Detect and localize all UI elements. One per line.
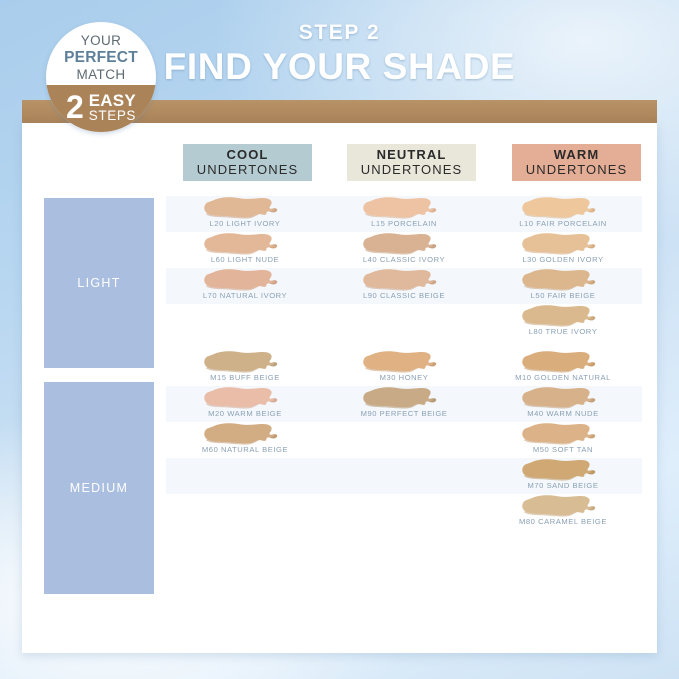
shade-swatch-icon [362,387,446,409]
badge-steps-label: STEPS [89,109,136,123]
shade-cell-empty [325,458,483,494]
badge-line-1: YOUR [46,33,156,49]
shade-name: L40 CLASSIC IVORY [325,255,483,264]
shade-name: M90 PERFECT BEIGE [325,409,483,418]
column-header-warm: WARM UNDERTONES [512,144,641,181]
group-label-medium: MEDIUM [44,382,154,594]
badge-top: YOUR PERFECT MATCH [46,22,156,85]
column-header-cool: COOL UNDERTONES [183,144,312,181]
shade-swatch-icon [521,459,605,481]
column-header-neutral-name: NEUTRAL [377,148,447,163]
badge-line-3: MATCH [46,67,156,83]
shade-name: L70 NATURAL IVORY [166,291,324,300]
shade-swatch-icon [362,233,446,255]
shade-cell[interactable]: M30 HONEY [325,350,483,386]
shade-name: M30 HONEY [325,373,483,382]
column-header-warm-sub: UNDERTONES [526,163,628,178]
shade-swatch-icon [203,269,287,291]
shade-cell-empty [325,422,483,458]
shade-cell[interactable]: M50 SOFT TAN [484,422,642,458]
shade-name: L80 TRUE IVORY [484,327,642,336]
shade-swatch-icon [203,423,287,445]
shade-name: M50 SOFT TAN [484,445,642,454]
shade-cell[interactable]: M60 NATURAL BEIGE [166,422,324,458]
shade-name: L60 LIGHT NUDE [166,255,324,264]
shade-swatch-icon [521,197,605,219]
shade-grid: L20 LIGHT IVORYL15 PORCELAINL10 FAIR POR… [166,196,642,530]
shade-swatch-icon [203,351,287,373]
shade-name: L20 LIGHT IVORY [166,219,324,228]
shade-name: M15 BUFF BEIGE [166,373,324,382]
shade-swatch-icon [521,233,605,255]
shade-name: M60 NATURAL BEIGE [166,445,324,454]
badge-line-2: PERFECT [46,49,156,67]
shade-cell-empty [166,304,324,340]
shade-cell[interactable]: L30 GOLDEN IVORY [484,232,642,268]
shade-swatch-icon [203,387,287,409]
shade-name: L15 PORCELAIN [325,219,483,228]
shade-swatch-icon [362,197,446,219]
shade-cell[interactable]: L80 TRUE IVORY [484,304,642,340]
shade-row: M80 CARAMEL BEIGE [166,494,642,530]
shade-cell-empty [166,458,324,494]
shade-row: M15 BUFF BEIGEM30 HONEYM10 GOLDEN NATURA… [166,350,642,386]
shade-swatch-icon [521,495,605,517]
group-label-light: LIGHT [44,198,154,368]
shade-cell[interactable]: M10 GOLDEN NATURAL [484,350,642,386]
shade-swatch-icon [521,351,605,373]
shade-name: M20 WARM BEIGE [166,409,324,418]
column-header-cool-sub: UNDERTONES [197,163,299,178]
shade-cell-empty [325,304,483,340]
shade-cell-empty [325,494,483,530]
shade-row: L20 LIGHT IVORYL15 PORCELAINL10 FAIR POR… [166,196,642,232]
shade-cell[interactable]: L10 FAIR PORCELAIN [484,196,642,232]
shade-cell[interactable]: M40 WARM NUDE [484,386,642,422]
shade-swatch-icon [203,197,287,219]
shade-name: L10 FAIR PORCELAIN [484,219,642,228]
shade-name: L50 FAIR BEIGE [484,291,642,300]
shade-cell[interactable]: L60 LIGHT NUDE [166,232,324,268]
group-spacer [166,340,642,350]
shade-swatch-icon [521,387,605,409]
shade-cell[interactable]: L90 CLASSIC BEIGE [325,268,483,304]
column-header-cool-name: COOL [227,148,269,163]
perfect-match-badge: YOUR PERFECT MATCH 2 EASY STEPS [46,22,156,132]
shade-row: M60 NATURAL BEIGEM50 SOFT TAN [166,422,642,458]
shade-cell[interactable]: M90 PERFECT BEIGE [325,386,483,422]
column-header-neutral: NEUTRAL UNDERTONES [347,144,476,181]
column-header-warm-name: WARM [554,148,600,163]
shade-row: M70 SAND BEIGE [166,458,642,494]
shade-name: M40 WARM NUDE [484,409,642,418]
shade-cell[interactable]: M15 BUFF BEIGE [166,350,324,386]
shade-row: L70 NATURAL IVORYL90 CLASSIC BEIGEL50 FA… [166,268,642,304]
shade-name: M70 SAND BEIGE [484,481,642,490]
shade-row: L60 LIGHT NUDEL40 CLASSIC IVORYL30 GOLDE… [166,232,642,268]
shade-name: L90 CLASSIC BEIGE [325,291,483,300]
shade-name: M80 CARAMEL BEIGE [484,517,642,526]
shade-cell[interactable]: M20 WARM BEIGE [166,386,324,422]
shade-cell[interactable]: L20 LIGHT IVORY [166,196,324,232]
shade-cell[interactable]: M80 CARAMEL BEIGE [484,494,642,530]
shade-cell[interactable]: L70 NATURAL IVORY [166,268,324,304]
shade-name: M10 GOLDEN NATURAL [484,373,642,382]
badge-steps-stack: EASY STEPS [89,92,136,123]
badge-easy-label: EASY [89,92,136,109]
shade-row: L80 TRUE IVORY [166,304,642,340]
shade-swatch-icon [521,423,605,445]
shade-name: L30 GOLDEN IVORY [484,255,642,264]
shade-cell[interactable]: L40 CLASSIC IVORY [325,232,483,268]
shade-swatch-icon [203,233,287,255]
shade-cell-empty [166,494,324,530]
shade-swatch-icon [521,305,605,327]
shade-swatch-icon [362,269,446,291]
shade-swatch-icon [521,269,605,291]
shade-row: M20 WARM BEIGEM90 PERFECT BEIGEM40 WARM … [166,386,642,422]
column-header-neutral-sub: UNDERTONES [361,163,463,178]
shade-cell[interactable]: L50 FAIR BEIGE [484,268,642,304]
shade-cell[interactable]: L15 PORCELAIN [325,196,483,232]
badge-step-number: 2 [66,93,84,122]
shade-cell[interactable]: M70 SAND BEIGE [484,458,642,494]
shade-swatch-icon [362,351,446,373]
poster-stage: STEP 2 FIND YOUR SHADE YOUR PERFECT MATC… [0,0,679,679]
